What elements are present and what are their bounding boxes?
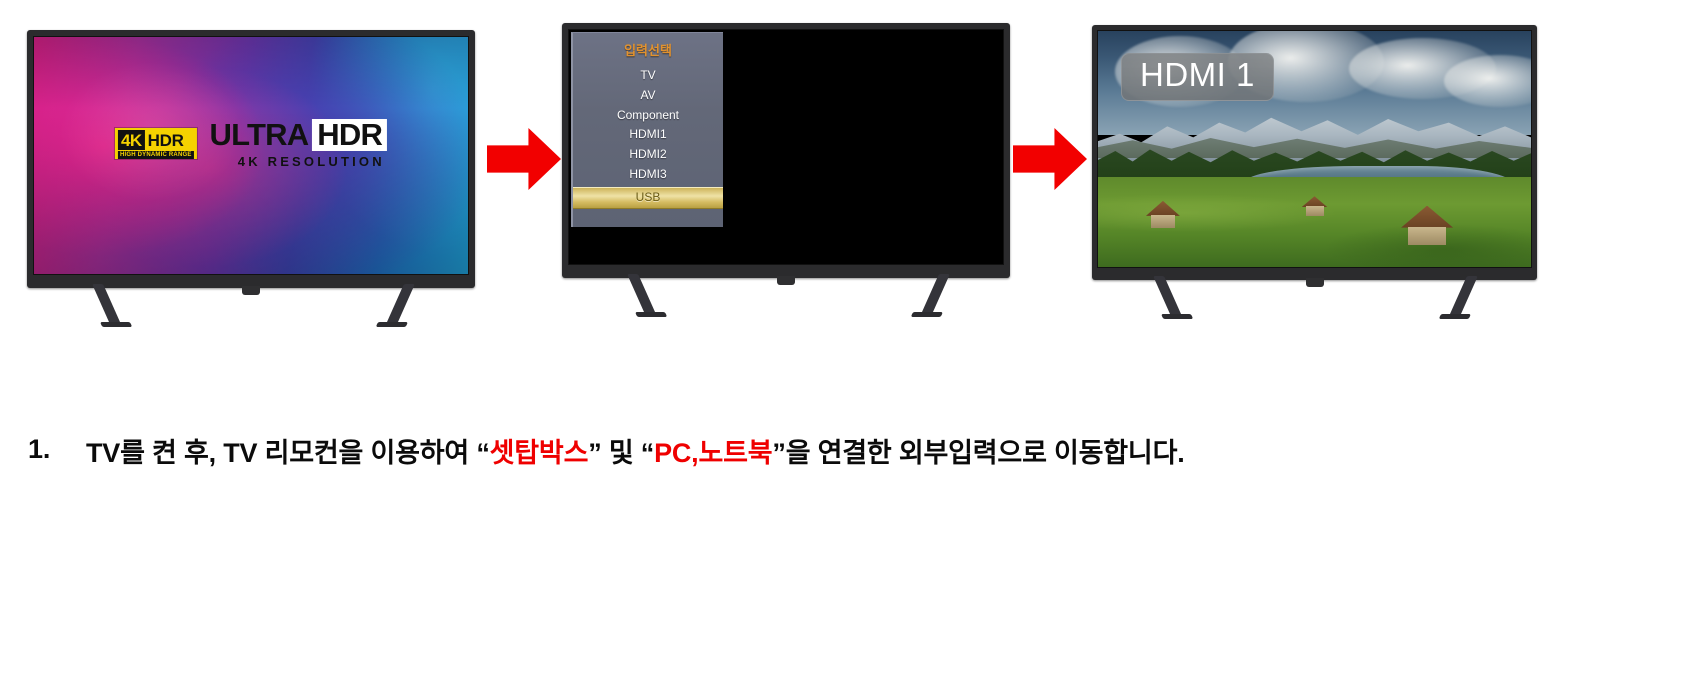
caption-segment-0: TV를 켠 후, TV 리모컨을 이용하여 “ [86,438,490,468]
tv-2-bezel: 입력선택 TV AV Component HDMI1 HDMI2 HDMI3 U… [562,23,1010,278]
tv-3-bezel: HDMI 1 [1092,25,1537,280]
hdr-word-boxed: HDR [312,119,387,151]
tv-2-leg-left [627,274,656,314]
tv-1-leg-right [386,284,415,324]
input-option-component[interactable]: Component [573,106,723,126]
caption-segment-1-highlight: 셋탑박스 [490,438,589,468]
tv-1-neck [242,286,260,295]
tv-3-screen: HDMI 1 [1097,30,1532,268]
input-option-usb-selected[interactable]: USB [573,187,723,209]
slide-canvas: 4K HDR HIGH DYNAMIC RANGE ULTRA HDR 4K R… [0,0,1696,683]
tv-2-neck [777,276,795,285]
hdr-logo-group: 4K HDR HIGH DYNAMIC RANGE ULTRA HDR 4K R… [115,119,387,169]
4k-label: 4K [118,130,145,150]
4k-hdr-badge: 4K HDR HIGH DYNAMIC RANGE [115,128,197,159]
input-option-hdmi3[interactable]: HDMI3 [573,165,723,185]
4k-hdr-badge-main: 4K HDR [118,130,194,150]
tv-1-foot-right [376,322,408,327]
cabin-right-wall [1408,227,1446,245]
instruction-step-number: 1. [28,434,86,465]
hdr-label: HDR [145,130,187,150]
tv-2-leg-right [921,274,950,314]
tv-3-foot-left [1161,314,1193,319]
tv-1-bezel: 4K HDR HIGH DYNAMIC RANGE ULTRA HDR 4K R… [27,30,475,288]
tv-3-leg-left [1153,276,1182,316]
input-option-hdmi1[interactable]: HDMI1 [573,125,723,145]
caption-segment-2: ” 및 “ [588,438,654,468]
tv-1-screen: 4K HDR HIGH DYNAMIC RANGE ULTRA HDR 4K R… [33,36,469,275]
4k-resolution-label: 4K RESOLUTION [212,154,385,169]
arrow-step-1-to-2-icon [487,128,561,190]
caption-segment-3-highlight: PC,노트북 [654,438,772,468]
tv-3-neck [1306,278,1324,287]
input-option-hdmi2[interactable]: HDMI2 [573,145,723,165]
tv-2-screen: 입력선택 TV AV Component HDMI1 HDMI2 HDMI3 U… [568,29,1004,265]
tv-2-foot-right [911,312,943,317]
input-select-menu-title: 입력선택 [573,37,723,66]
input-option-tv[interactable]: TV [573,66,723,86]
input-option-av[interactable]: AV [573,86,723,106]
ultra-hdr-wordmark: ULTRA HDR 4K RESOLUTION [210,119,388,169]
caption-segment-4: ”을 연결한 외부입력으로 이동합니다. [772,438,1184,468]
input-select-menu[interactable]: 입력선택 TV AV Component HDMI1 HDMI2 HDMI3 U… [571,32,723,227]
hdmi-input-badge-label: HDMI 1 [1140,56,1255,93]
high-dynamic-range-label: HIGH DYNAMIC RANGE [118,151,194,159]
ultra-hdr-wordmark-line: ULTRA HDR [210,119,388,151]
tv-1-leg-left [92,284,121,324]
instruction-step-1: 1. TV를 켠 후, TV 리모컨을 이용하여 “셋탑박스” 및 “PC,노트… [28,434,1668,472]
tv-3-leg-right [1449,276,1478,316]
tv-3-foot-right [1439,314,1471,319]
tv-1-foot-left [100,322,132,327]
arrow-step-2-to-3-icon [1013,128,1087,190]
ultra-word: ULTRA [210,119,309,150]
instruction-step-text: TV를 켠 후, TV 리모컨을 이용하여 “셋탑박스” 및 “PC,노트북”을… [86,434,1668,472]
cabin-left-wall [1151,215,1175,228]
cabin-middle-wall [1306,206,1324,216]
tv-2-foot-left [635,312,667,317]
hdmi-input-badge: HDMI 1 [1121,53,1274,101]
